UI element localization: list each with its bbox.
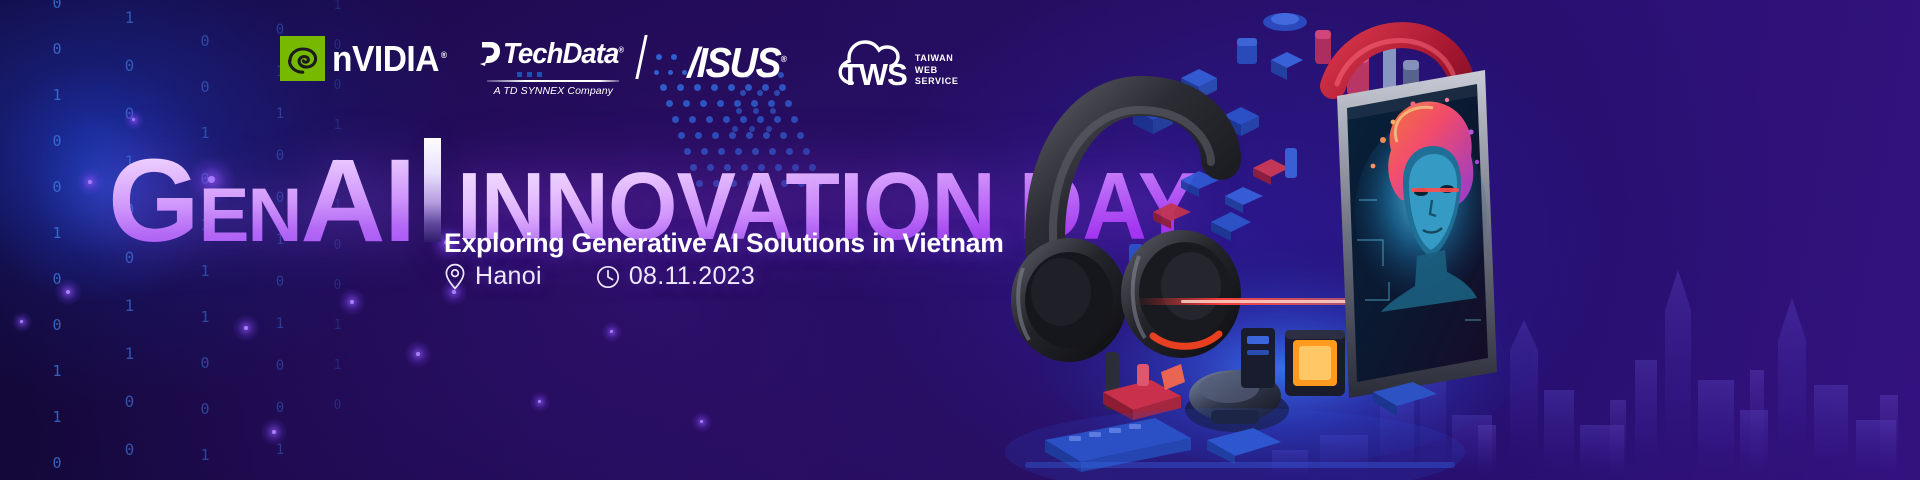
sparkle-dot: [272, 430, 276, 434]
tech-data-dots-decoration: [517, 72, 542, 77]
asus-wordmark: /ISUS®: [687, 42, 785, 84]
isometric-ai-scene: [985, 0, 1545, 480]
asus-logo: /ISUS®: [688, 36, 793, 84]
nvidia-eye-icon: [280, 36, 325, 81]
sparkle-dot: [244, 326, 248, 330]
event-subtitle: Exploring Generative AI Solutions in Vie…: [444, 228, 1004, 259]
event-location-label: Hanoi: [475, 262, 542, 291]
sparkle-dot: [700, 420, 703, 423]
event-date: 08.11.2023: [596, 262, 755, 291]
asus-dots-decoration: [654, 70, 687, 75]
asus-registered-mark: ®: [780, 54, 785, 64]
event-location: Hanoi: [444, 262, 542, 291]
event-date-label: 08.11.2023: [629, 262, 755, 291]
ai-tech-illustration: [985, 0, 1545, 480]
genai-letter-g: G: [108, 154, 199, 248]
genai-letters-en: EN: [199, 186, 301, 247]
tech-data-registered-mark: ®: [619, 45, 624, 54]
nvidia-wordmark: nVIDIA®: [332, 41, 447, 77]
clock-icon: [596, 265, 620, 289]
location-pin-icon: [444, 263, 466, 290]
tws-tagline: TAIWAN WEB SERVICE: [915, 53, 959, 92]
sparkle-dot: [20, 320, 23, 323]
tech-data-monogram-icon: [477, 38, 503, 70]
tech-data-logo: TechData® A TD SYNNEX Company: [477, 36, 629, 97]
asus-dots-decoration: [656, 54, 677, 60]
tws-tagline-line: SERVICE: [915, 76, 959, 88]
nvidia-registered-mark: ®: [441, 50, 447, 60]
tws-tagline-line: TAIWAN: [915, 53, 959, 65]
tech-data-wordmark: TechData®: [503, 40, 623, 69]
tws-wordmark: TWS: [841, 59, 907, 90]
binary-rain-column: 0 0 1 0 0 1 0 0 1 1 0 0 1 0: [48, 0, 66, 480]
tech-data-wordmark-row: TechData®: [477, 38, 629, 70]
sparkle-dot: [66, 290, 70, 294]
nvidia-eye-glyph: [283, 39, 323, 79]
event-meta-row: Hanoi 08.11.2023: [444, 262, 755, 291]
sparkle-dot: [350, 300, 354, 304]
tech-data-tagline: A TD SYNNEX Company: [494, 85, 613, 97]
sparkle-dot: [88, 180, 92, 184]
sparkle-dot: [538, 400, 541, 403]
tws-cloud-icon: TWS: [829, 40, 913, 92]
genai-brand-lockup: G EN AI: [108, 154, 414, 248]
sparkle-dot: [416, 352, 420, 356]
nvidia-logo: nVIDIA®: [280, 36, 455, 81]
tws-tagline-line: WEB: [915, 65, 959, 77]
partner-logo-strip: nVIDIA® TechData® A TD SYNNEX Company: [280, 36, 958, 98]
sparkle-dot: [132, 118, 135, 121]
sparkle-dot: [610, 330, 613, 333]
tech-data-slash-decoration: [635, 35, 647, 79]
genai-letters-ai: AI: [300, 154, 414, 248]
tws-logo: TWS TAIWAN WEB SERVICE: [829, 36, 959, 92]
tech-data-underline-decoration: [487, 80, 619, 82]
headline-divider: [424, 138, 441, 242]
genai-innovation-day-banner: 0 0 1 0 0 1 0 0 1 1 0 0 1 0 1 0 0 1 0 0 …: [0, 0, 1920, 480]
